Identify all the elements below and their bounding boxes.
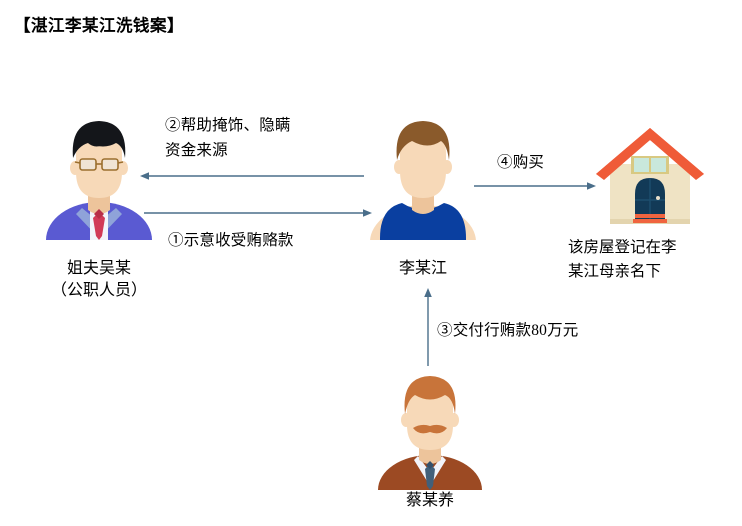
arrow-up-icon <box>420 288 436 366</box>
avatar-official <box>44 110 154 240</box>
arrow-right-icon <box>144 205 372 221</box>
person-blue-shirt-icon <box>368 110 478 240</box>
arrow-1-hint-bribe <box>144 205 372 221</box>
node-label-official: 姐夫吴某 （公职人员） <box>14 258 184 302</box>
arrow-3-pay-bribe <box>420 288 436 366</box>
diagram-canvas: 【湛江李某江洗钱案】 ②帮助掩饰、隐瞒 资金来源 ①示意收受贿赂款 ④购买 ③交 <box>0 0 742 526</box>
house-icon <box>594 126 706 228</box>
node-label-launderer: 李某江 <box>368 258 478 280</box>
arrow-right-icon <box>474 178 596 194</box>
house-illustration <box>594 126 706 233</box>
arrow-4-purchase <box>474 178 596 194</box>
avatar-briber <box>375 368 485 490</box>
person-with-glasses-icon <box>44 110 154 240</box>
house-registration-note: 该房屋登记在李 某江母亲名下 <box>568 236 734 284</box>
person-with-mustache-icon <box>375 368 485 490</box>
avatar-launderer <box>368 110 478 240</box>
arrow-2-help-conceal <box>140 168 364 184</box>
page-title: 【湛江李某江洗钱案】 <box>14 12 184 36</box>
node-label-briber: 蔡某养 <box>375 490 485 512</box>
edge-label-3: ③交付行贿款80万元 <box>437 318 667 343</box>
edge-label-2: ②帮助掩饰、隐瞒 资金来源 <box>165 113 365 163</box>
edge-label-1: ①示意收受贿赂款 <box>168 228 388 253</box>
arrow-left-icon <box>140 168 364 184</box>
